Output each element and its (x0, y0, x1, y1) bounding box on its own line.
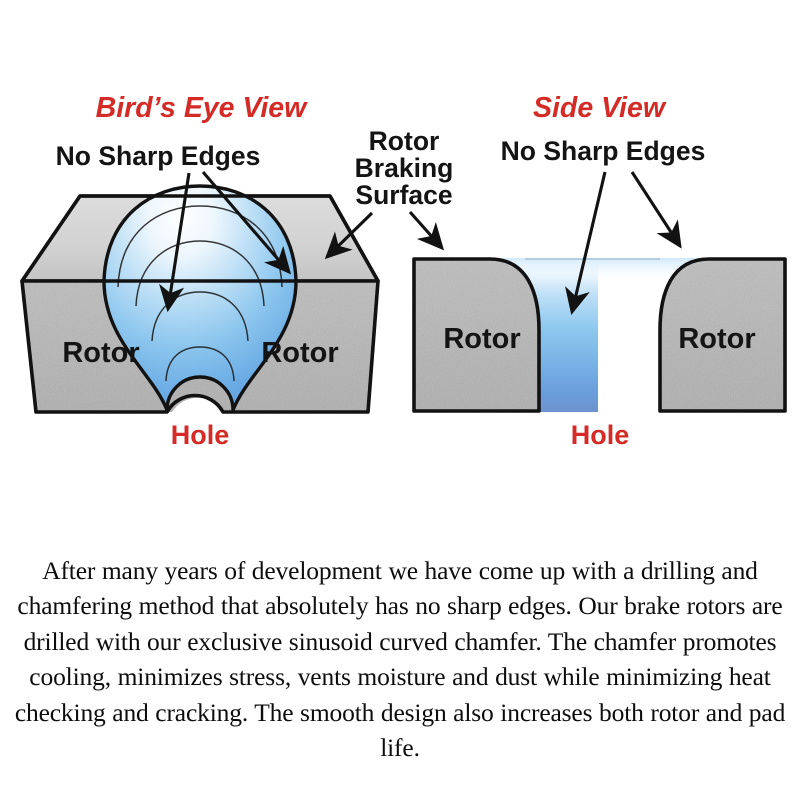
rotor-braking-surface-line-2: Braking (355, 153, 454, 183)
label-hole-right: Hole (571, 420, 630, 450)
page-root: Bird’s Eye View Side View (0, 0, 800, 800)
arrow-braking-surface-to-right (410, 212, 442, 248)
label-no-sharp-edges-right: No Sharp Edges (501, 136, 706, 166)
label-rotor-left-b: Rotor (261, 337, 338, 369)
rotor-braking-surface-line-1: Rotor (369, 126, 440, 156)
rotor-chamfer-diagram: Bird’s Eye View Side View (0, 0, 800, 500)
description-paragraph: After many years of development we have … (8, 553, 792, 766)
birds-eye-view-group: Rotor Rotor Hole (22, 186, 378, 450)
label-rotor-left-a: Rotor (62, 337, 139, 369)
label-no-sharp-edges-left: No Sharp Edges (56, 141, 261, 171)
diagram-area: Bird’s Eye View Side View (0, 0, 800, 500)
heading-side-view: Side View (533, 92, 667, 124)
label-rotor-braking-surface: Rotor Braking Surface (355, 126, 454, 210)
label-hole-left: Hole (171, 420, 230, 450)
label-rotor-right-b: Rotor (678, 323, 755, 355)
side-view-group: Rotor Rotor Hole (414, 258, 785, 450)
label-rotor-right-a: Rotor (443, 323, 520, 355)
heading-birds-eye: Bird’s Eye View (96, 92, 309, 124)
arrow-no-sharp-edges-right-outer (632, 172, 680, 246)
rotor-braking-surface-line-3: Surface (355, 180, 452, 210)
